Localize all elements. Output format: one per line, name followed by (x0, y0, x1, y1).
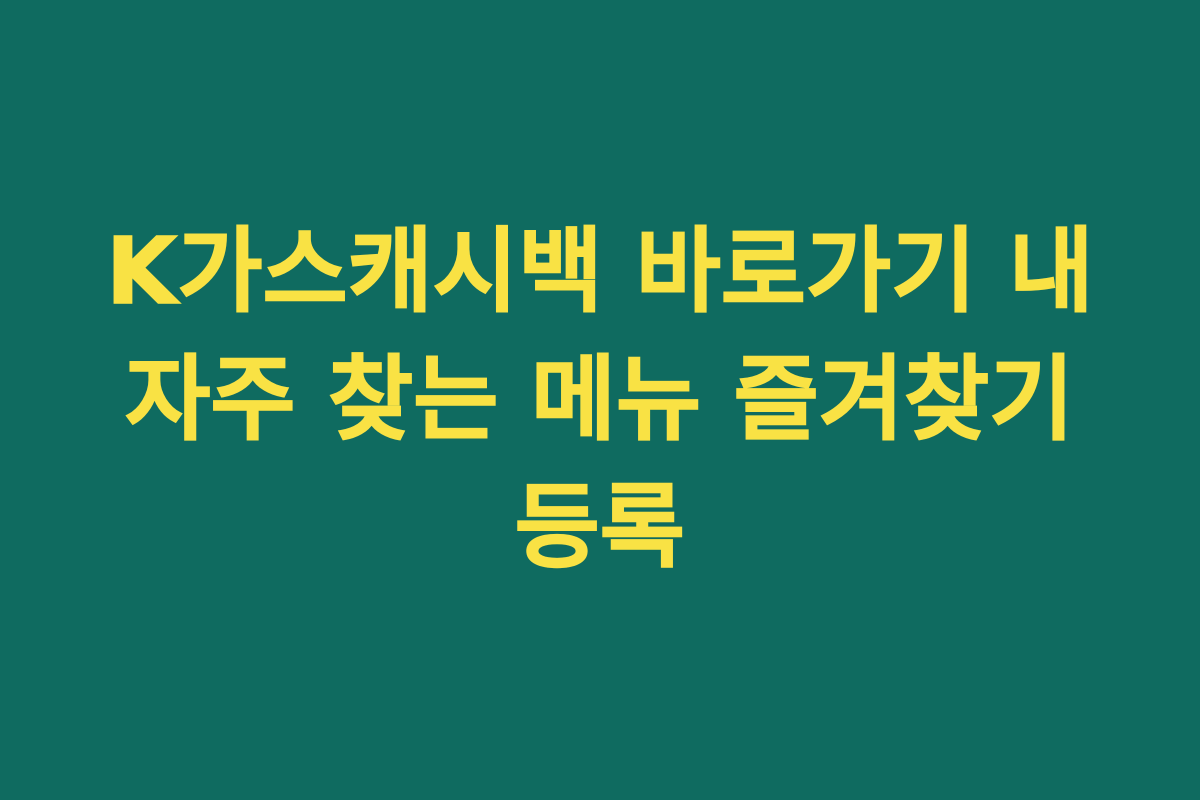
banner-headline: K가스캐시백 바로가기 내 자주 찾는 메뉴 즐겨찾기 등록 (95, 208, 1105, 592)
promo-banner: K가스캐시백 바로가기 내 자주 찾는 메뉴 즐겨찾기 등록 (0, 0, 1200, 800)
